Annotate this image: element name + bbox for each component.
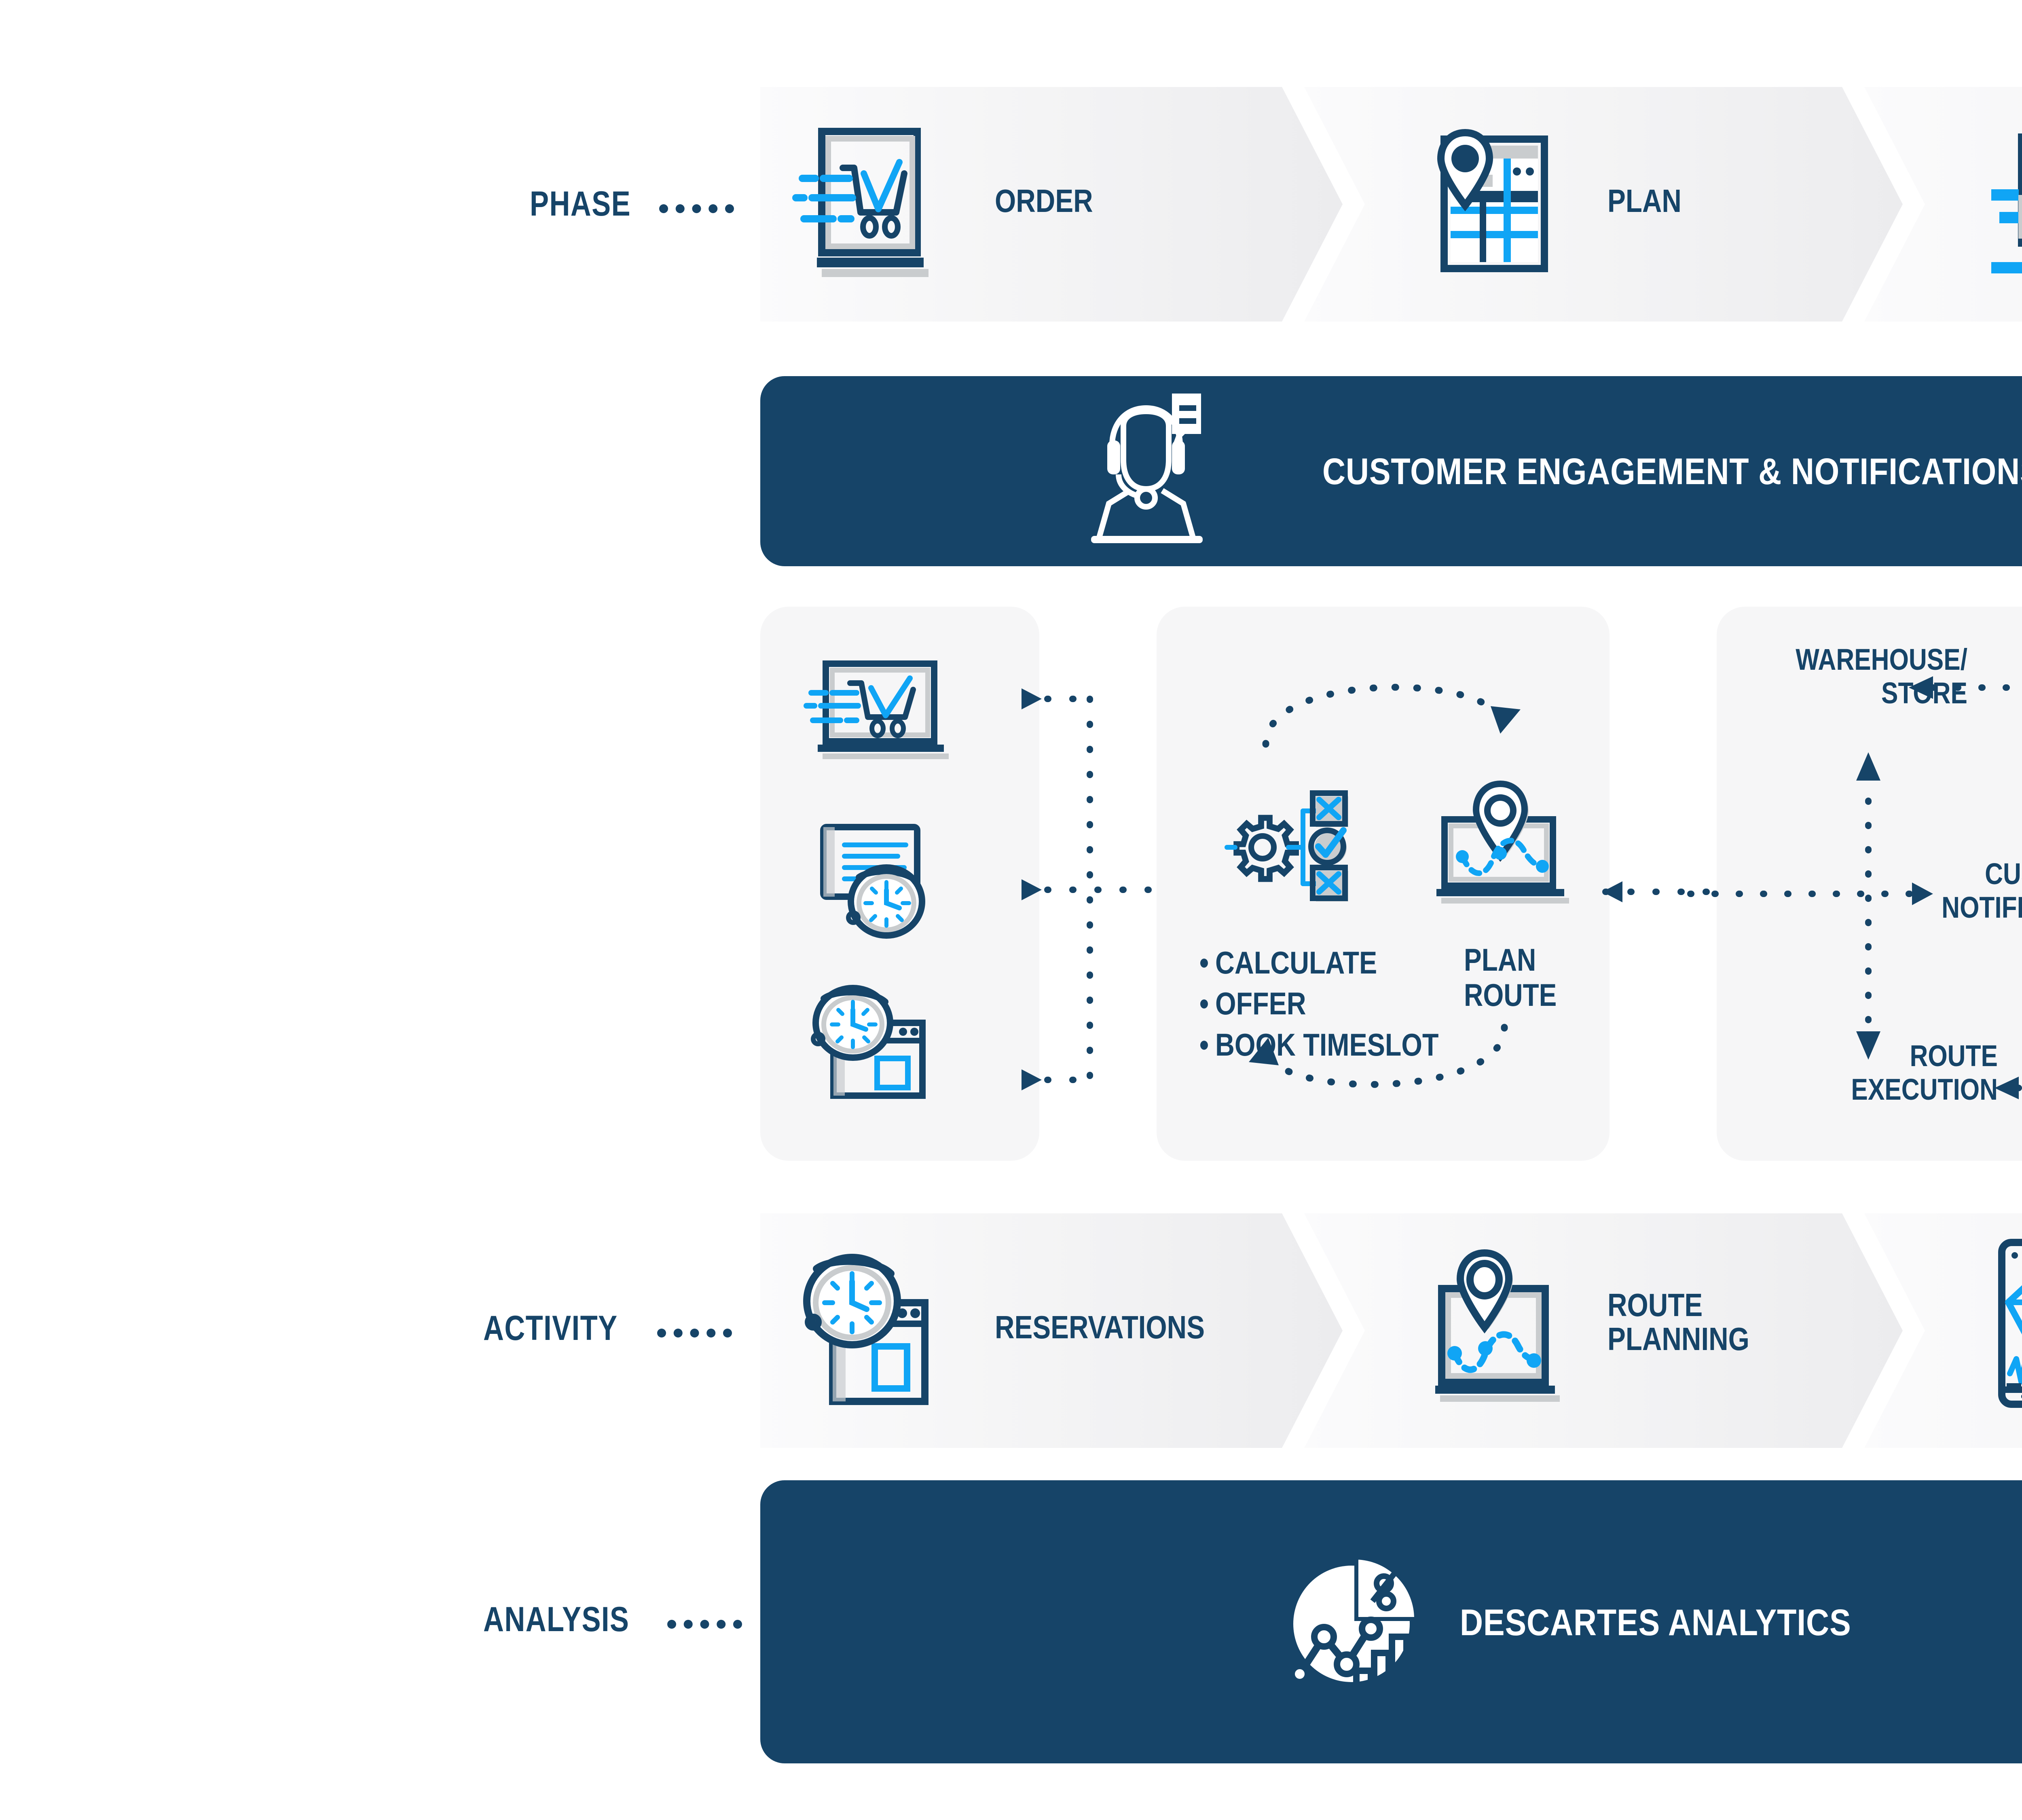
activity-chevron-route-planning[interactable] (1304, 1213, 1903, 1448)
gear-checklist-icon (1225, 795, 1359, 936)
phase-chevron-plan[interactable] (1304, 87, 1903, 322)
analysis-leader-dots (667, 1620, 742, 1629)
row-label-phase: PHASE (530, 184, 631, 224)
reservations-icon (791, 1248, 948, 1414)
descartes-analytics-title: DESCARTES ANALYTICS (1460, 1602, 1851, 1644)
execute-icon (1973, 117, 2022, 279)
pie-chart-analytics-icon (1282, 1551, 1419, 1697)
timeslot-bullet-list: CALCULATE OFFER BOOK TIMESLOT (1215, 942, 1438, 1065)
phase-step-label-plan: PLAN (1607, 184, 1681, 218)
route-execution-mobile-icon (1994, 1238, 2022, 1416)
panel-left-document-clock-icon (809, 819, 950, 944)
route-planning-icon (1426, 1250, 1563, 1412)
panel-middle-laptop-route-icon (1423, 781, 1573, 914)
customer-engagement-banner[interactable]: CUSTOMER ENGAGEMENT & NOTIFICATIONS (760, 376, 2022, 566)
activity-step-label-reservations: RESERVATIONS (995, 1310, 1205, 1344)
bullet-calculate: CALCULATE (1215, 942, 1438, 983)
activity-step-label-route-planning: ROUTE PLANNING (1607, 1288, 1749, 1356)
phase-leader-dots (659, 204, 734, 213)
phase-step-label-order: ORDER (995, 184, 1093, 218)
plan-route-label: PLAN ROUTE (1464, 942, 1557, 1013)
headset-agent-icon (1088, 390, 1205, 552)
row-label-activity: ACTIVITY (483, 1308, 618, 1348)
bullet-offer: OFFER (1215, 983, 1438, 1024)
diagram-canvas: PHASE ORDER (0, 0, 2022, 1820)
right-panel-connectors (1690, 631, 2022, 1141)
plan-icon (1430, 121, 1559, 287)
panel-left-laptop-cart-icon (805, 657, 954, 770)
customer-engagement-title: CUSTOMER ENGAGEMENT & NOTIFICATIONS (1322, 451, 2022, 493)
row-label-analysis: ANALYSIS (483, 1600, 629, 1640)
panel-left-clock-window-icon (803, 981, 944, 1106)
order-icon (793, 123, 946, 285)
descartes-analytics-banner[interactable]: DESCARTES ANALYTICS (760, 1480, 2022, 1763)
activity-leader-dots (657, 1329, 732, 1337)
bullet-book-timeslot: BOOK TIMESLOT (1215, 1024, 1438, 1065)
